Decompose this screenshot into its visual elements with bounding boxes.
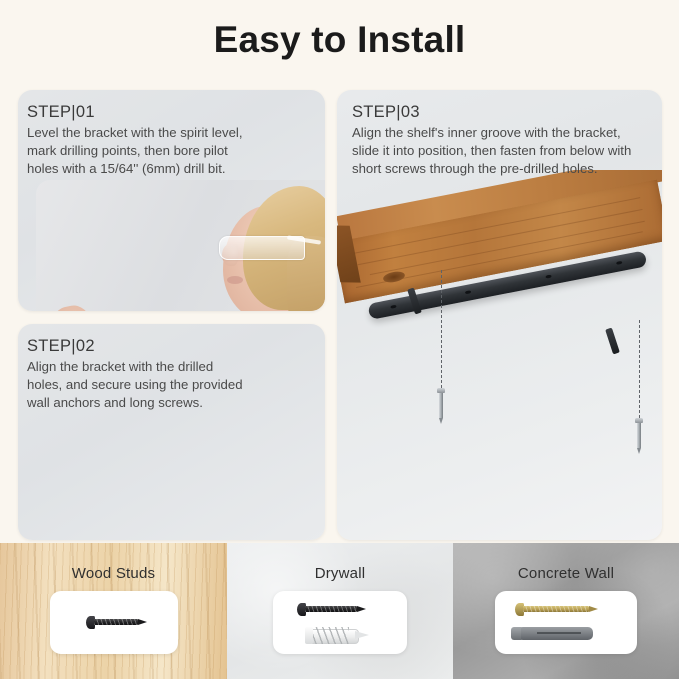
hardware-card-drywall: [273, 591, 407, 654]
step-03-body: Align the shelf's inner groove with the …: [352, 124, 657, 179]
bracket-hole: [390, 305, 397, 309]
screw-tip-icon: [589, 606, 598, 612]
bracket-hole: [545, 275, 552, 279]
bracket-hole: [616, 261, 623, 265]
drywall-anchor-icon: [295, 627, 371, 644]
material-label-wood-studs: Wood Studs: [0, 565, 227, 582]
anchor-thread: [309, 627, 349, 644]
material-label-drywall: Drywall: [227, 565, 453, 582]
screw-tip-icon: [357, 606, 366, 612]
materials-strip: Wood Studs Drywall Concrete Wall: [0, 543, 679, 679]
short-screw: [637, 422, 641, 448]
drywall-screw-icon: [305, 606, 357, 612]
alignment-dashed-line: [441, 270, 442, 388]
hardware-card-concrete-wall: [495, 591, 637, 654]
plug-body: [521, 627, 593, 640]
step-01-photo: [36, 180, 325, 311]
concrete-wall-plug-icon: [511, 627, 597, 640]
person-illustration: [203, 180, 325, 311]
material-panel-drywall: Drywall: [227, 543, 453, 679]
lips-shape: [227, 276, 243, 284]
concrete-screw-icon: [523, 606, 589, 612]
step-01-heading: STEP|01: [27, 103, 95, 122]
anchor-tip: [355, 631, 369, 639]
hardware-card-wood-studs: [50, 591, 178, 654]
step-02-heading: STEP|02: [27, 337, 95, 356]
short-screw: [439, 392, 443, 418]
step-03-illustration: [337, 170, 662, 540]
step-01-body: Level the bracket with the spirit level,…: [27, 124, 297, 179]
material-label-concrete-wall: Concrete Wall: [453, 565, 679, 582]
bracket-hole: [465, 290, 472, 294]
alignment-dashed-line: [639, 320, 640, 418]
material-panel-wood-studs: Wood Studs: [0, 543, 227, 679]
anchor-flange: [305, 627, 313, 644]
step-03-heading: STEP|03: [352, 103, 420, 122]
material-panel-concrete-wall: Concrete Wall: [453, 543, 679, 679]
step-02-card: [18, 324, 325, 540]
page-title: Easy to Install: [0, 18, 679, 62]
wood-screw-icon: [94, 619, 138, 625]
plug-slot: [537, 632, 581, 634]
screw-tip-icon: [138, 619, 147, 625]
bracket-riser: [605, 328, 620, 355]
step-02-body: Align the bracket with the drilled holes…: [27, 358, 297, 413]
